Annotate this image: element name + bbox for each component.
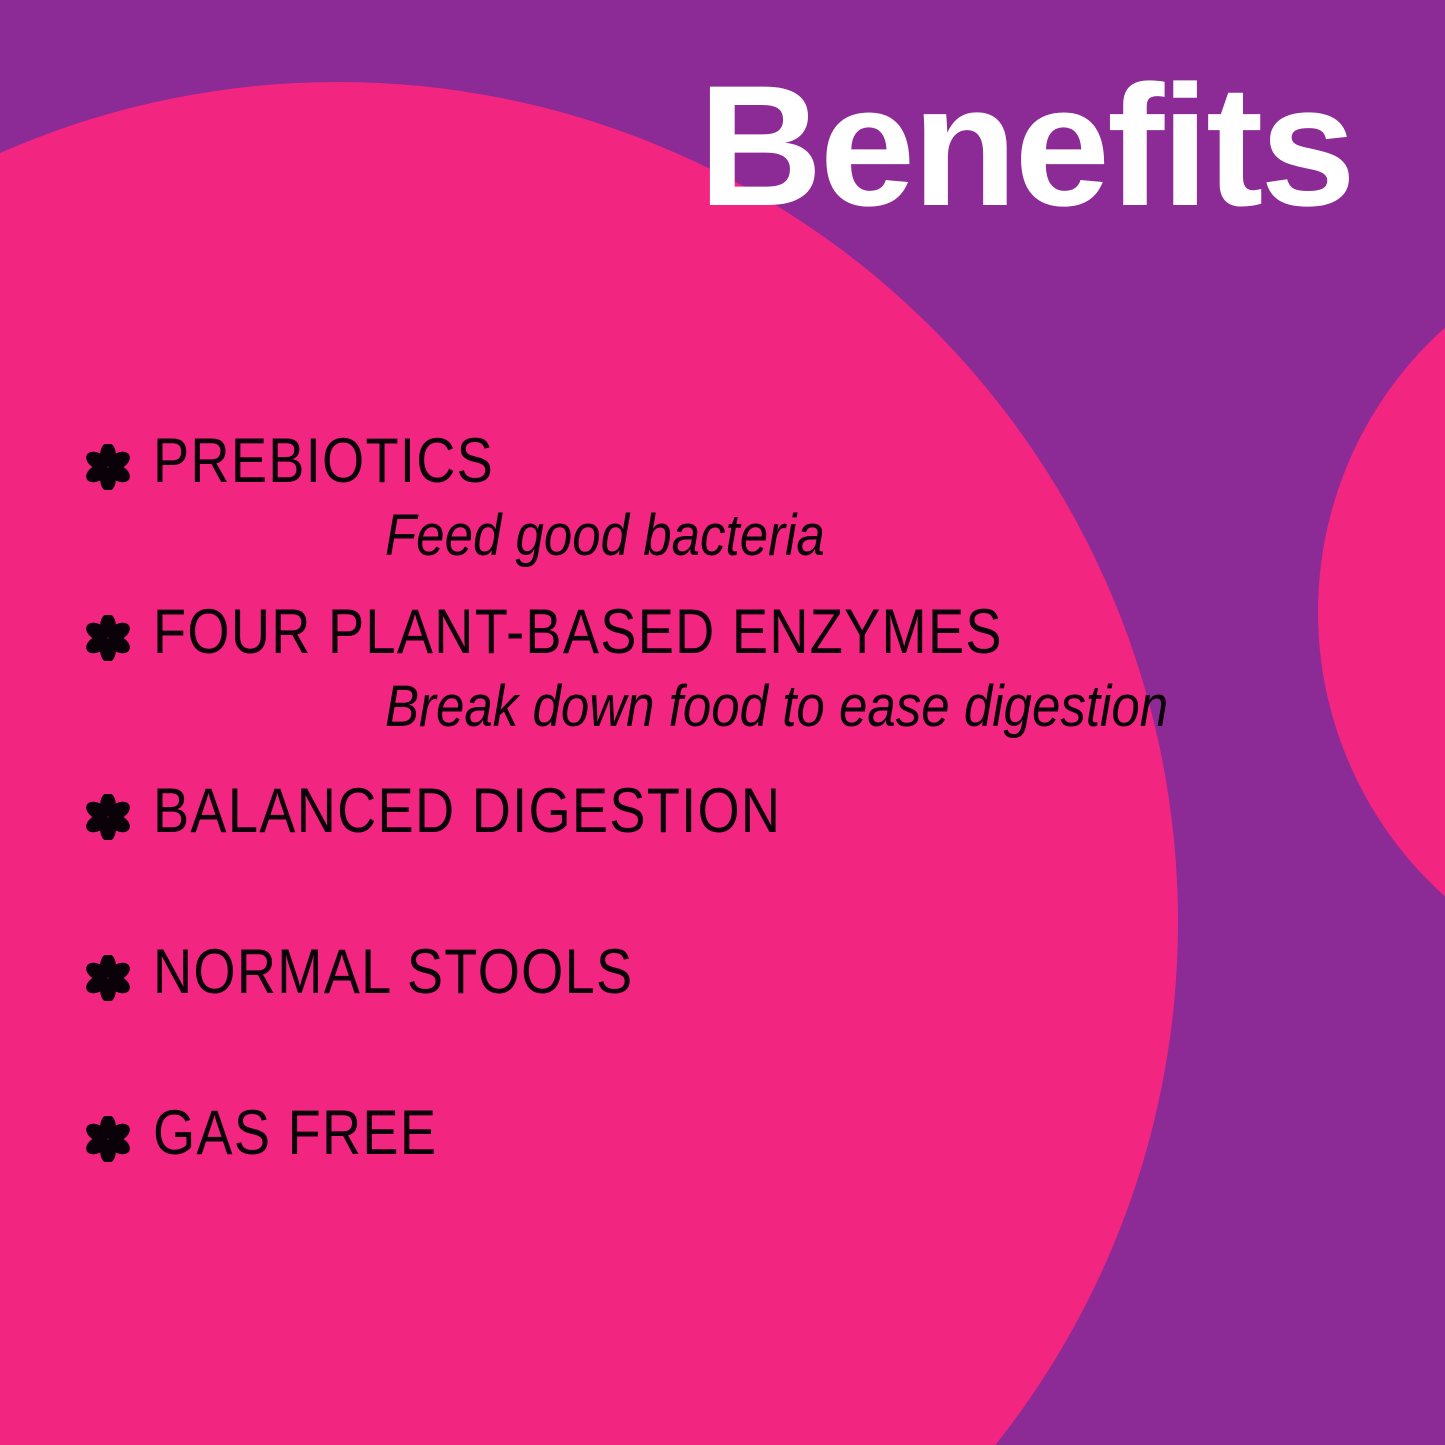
benefit-label: NORMAL STOOLS [153, 941, 633, 1004]
list-item: NORMAL STOOLS [85, 941, 1365, 1004]
flower-asterisk-icon [85, 794, 131, 840]
benefit-subtext: Break down food to ease digestion [385, 678, 1247, 736]
flower-asterisk-icon [85, 444, 131, 490]
list-item: FOUR PLANT-BASED ENZYMES Break down food… [85, 601, 1365, 736]
benefit-label: PREBIOTICS [153, 430, 494, 493]
flower-asterisk-icon [85, 955, 131, 1001]
benefit-label: GAS FREE [153, 1102, 437, 1165]
benefit-headline-row: FOUR PLANT-BASED ENZYMES [85, 601, 1365, 664]
page-title-wrapper: Benefits [698, 60, 1353, 232]
benefit-label: BALANCED DIGESTION [153, 780, 781, 843]
benefit-headline-row: BALANCED DIGESTION [85, 780, 1365, 843]
list-item: PREBIOTICS Feed good bacteria [85, 430, 1365, 565]
flower-asterisk-icon [85, 615, 131, 661]
benefit-label: FOUR PLANT-BASED ENZYMES [153, 601, 1003, 664]
benefit-headline-row: PREBIOTICS [85, 430, 1365, 493]
benefit-headline-row: GAS FREE [85, 1102, 1365, 1165]
list-item: BALANCED DIGESTION [85, 780, 1365, 843]
benefits-list: PREBIOTICS Feed good bacteria [85, 430, 1365, 1165]
benefit-headline-row: NORMAL STOOLS [85, 941, 1365, 1004]
benefits-poster: Benefits [0, 0, 1445, 1445]
page-title: Benefits [698, 60, 1353, 232]
flower-asterisk-icon [85, 1116, 131, 1162]
list-item: GAS FREE [85, 1102, 1365, 1165]
benefit-subtext: Feed good bacteria [385, 507, 1247, 565]
